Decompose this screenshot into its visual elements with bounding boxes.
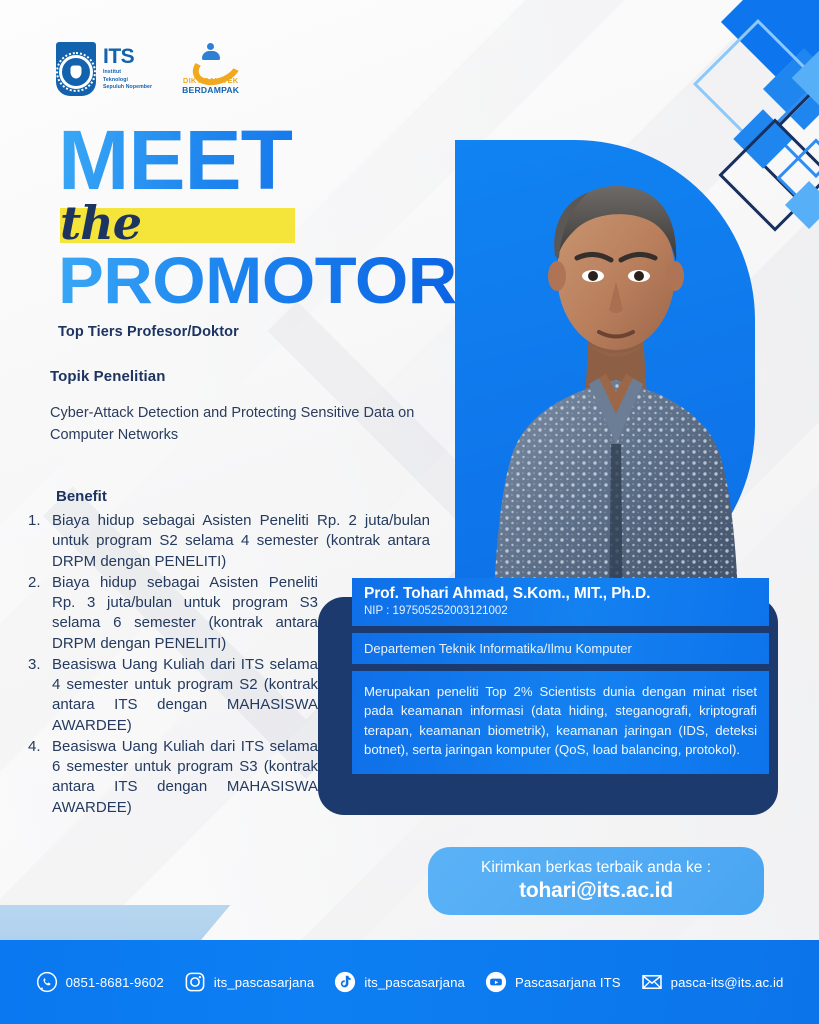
benefit-list-item: 1. Biaya hidup sebagai Asisten Peneliti … xyxy=(28,511,430,572)
cta-instruction: Kirimkan berkas terbaik anda ke : xyxy=(481,859,711,877)
instagram-icon xyxy=(184,971,206,993)
contact-label: its_pascasarjana xyxy=(214,975,315,990)
benefit-item-number: 3. xyxy=(28,655,52,736)
benefit-item-number: 1. xyxy=(28,511,52,572)
profile-nip: NIP : 197505252003121002 xyxy=(364,605,757,617)
header-logos: ITS Institut Teknologi Sepuluh Nopember … xyxy=(56,42,239,96)
diktisaintek-logo: DIKTISAINTEK BERDAMPAK xyxy=(182,43,239,94)
avatar xyxy=(493,152,739,622)
profile-description-bar: Merupakan peneliti Top 2% Scientists dun… xyxy=(352,671,769,774)
its-gear-icon xyxy=(59,55,93,89)
title-the: the xyxy=(60,200,141,246)
email-icon xyxy=(641,971,663,993)
benefit-list-item: 3. Beasiswa Uang Kuliah dari ITS selama … xyxy=(28,655,318,736)
benefit-item-text: Biaya hidup sebagai Asisten Peneliti Rp.… xyxy=(52,573,318,654)
profile-department-bar: Departemen Teknik Informatika/Ilmu Kompu… xyxy=(352,633,769,664)
cta-email[interactable]: tohari@its.ac.id xyxy=(519,879,673,903)
benefit-item-text: Beasiswa Uang Kuliah dari ITS selama 6 s… xyxy=(52,737,318,818)
benefit-item-text: Biaya hidup sebagai Asisten Peneliti Rp.… xyxy=(52,511,430,572)
title-promotor: PROMOTOR xyxy=(58,251,457,310)
contact-email[interactable]: pasca-its@its.ac.id xyxy=(641,971,784,993)
its-logo: ITS Institut Teknologi Sepuluh Nopember xyxy=(56,42,152,96)
youtube-icon xyxy=(485,971,507,993)
benefit-item-text: Beasiswa Uang Kuliah dari ITS selama 4 s… xyxy=(52,655,318,736)
contact-label: pasca-its@its.ac.id xyxy=(671,975,784,990)
person-icon xyxy=(203,43,219,61)
profile-photo-area xyxy=(455,140,775,620)
tiktok-icon xyxy=(334,971,356,993)
its-logo-subtitle-line: Institut xyxy=(103,69,152,77)
profile-name-bar: Prof. Tohari Ahmad, S.Kom., MIT., Ph.D. … xyxy=(352,578,769,626)
poster-canvas: ITS Institut Teknologi Sepuluh Nopember … xyxy=(0,0,819,1024)
profile-card: Prof. Tohari Ahmad, S.Kom., MIT., Ph.D. … xyxy=(352,578,769,774)
benefit-item-number: 4. xyxy=(28,737,52,818)
contact-whatsapp[interactable]: 0851-8681-9602 xyxy=(36,971,164,993)
research-topic-text: Cyber-Attack Detection and Protecting Se… xyxy=(50,403,430,447)
profile-description: Merupakan peneliti Top 2% Scientists dun… xyxy=(364,682,757,759)
profile-department: Departemen Teknik Informatika/Ilmu Kompu… xyxy=(364,641,757,656)
research-topic-section: Topik Penelitian Cyber-Attack Detection … xyxy=(50,368,430,447)
diktisaintek-swoosh-logo-icon xyxy=(192,43,230,73)
profile-name: Prof. Tohari Ahmad, S.Kom., MIT., Ph.D. xyxy=(364,585,757,603)
poster-title-block: MEET the PROMOTOR Top Tiers Profesor/Dok… xyxy=(58,126,441,340)
footer-contact-bar: 0851-8681-9602 its_pascasarjana its_pasc… xyxy=(0,940,819,1024)
its-logo-subtitle-line: Sepuluh Nopember xyxy=(103,84,152,92)
its-logo-subtitle-line: Teknologi xyxy=(103,77,152,85)
its-logo-name: ITS xyxy=(103,46,152,67)
contact-instagram[interactable]: its_pascasarjana xyxy=(184,971,315,993)
research-topic-heading: Topik Penelitian xyxy=(50,368,430,385)
contact-label: 0851-8681-9602 xyxy=(66,975,164,990)
title-subtitle: Top Tiers Profesor/Doktor xyxy=(58,324,441,340)
benefit-list-item: 4. Beasiswa Uang Kuliah dari ITS selama … xyxy=(28,737,318,818)
title-meet: MEET xyxy=(58,126,449,195)
diktisaintek-logo-line2: BERDAMPAK xyxy=(182,86,239,95)
contact-label: Pascasarjana ITS xyxy=(515,975,621,990)
benefit-heading: Benefit xyxy=(56,488,438,505)
submission-cta-box[interactable]: Kirimkan berkas terbaik anda ke : tohari… xyxy=(428,847,764,915)
contact-youtube[interactable]: Pascasarjana ITS xyxy=(485,971,621,993)
its-shield-gear-logo-icon xyxy=(56,42,96,96)
contact-tiktok[interactable]: its_pascasarjana xyxy=(334,971,465,993)
benefit-item-number: 2. xyxy=(28,573,52,654)
benefit-list-item: 2. Biaya hidup sebagai Asisten Peneliti … xyxy=(28,573,318,654)
contact-label: its_pascasarjana xyxy=(364,975,465,990)
whatsapp-icon xyxy=(36,971,58,993)
